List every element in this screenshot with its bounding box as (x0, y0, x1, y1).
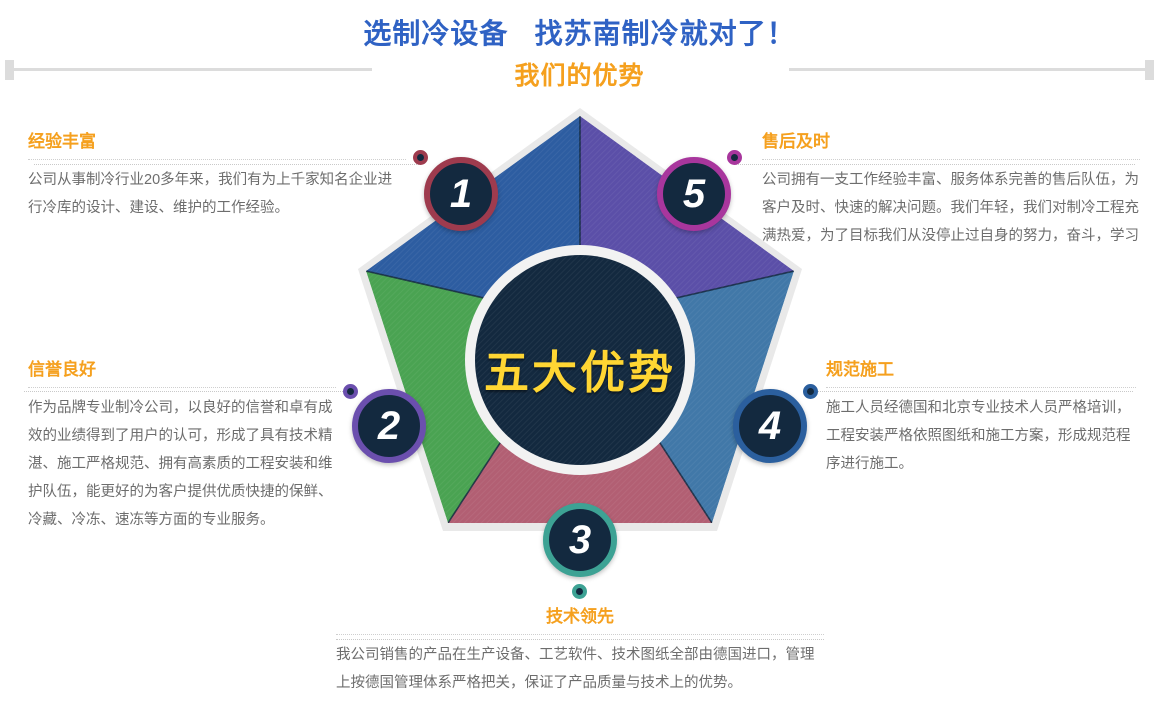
advantage-divider-technology (336, 634, 824, 635)
page-title: 选制冷设备 找苏南制冷就对了！ (0, 12, 1159, 52)
badge-5-number: 5 (683, 172, 705, 217)
advantage-divider-reputation (28, 387, 336, 388)
advantage-body-aftersales: 公司拥有一支工作经验丰富、服务体系完善的售后队伍，为客户及时、快速的解决问题。我… (762, 166, 1140, 250)
advantage-block-aftersales: 售后及时 公司拥有一支工作经验丰富、服务体系完善的售后队伍，为客户及时、快速的解… (762, 132, 1140, 250)
advantage-body-reputation: 作为品牌专业制冷公司，以良好的信誉和卓有成效的业绩得到了用户的认可，形成了具有技… (28, 394, 336, 534)
badge-dot-4 (803, 384, 818, 399)
badge-dot-5 (727, 150, 742, 165)
page-header: 选制冷设备 找苏南制冷就对了！ 我们的优势 (0, 0, 1159, 100)
advantage-title-technology: 技术领先 (336, 607, 824, 627)
advantage-body-technology: 我公司销售的产品在生产设备、工艺软件、技术图纸全部由德国进口，管理上按德国管理体… (336, 641, 824, 697)
pentagon-svg (358, 108, 802, 564)
advantage-block-construction: 规范施工 施工人员经德国和北京专业技术人员严格培训，工程安装严格依照图纸和施工方… (826, 360, 1136, 478)
advantage-block-reputation: 信誉良好 作为品牌专业制冷公司，以良好的信誉和卓有成效的业绩得到了用户的认可，形… (28, 360, 336, 534)
advantage-title-reputation: 信誉良好 (28, 360, 336, 380)
advantage-body-experience: 公司从事制冷行业20多年来，我们有为上千家知名企业进行冷库的设计、建设、维护的工… (28, 166, 406, 222)
advantage-title-aftersales: 售后及时 (762, 132, 1140, 152)
badge-2-number: 2 (378, 404, 400, 449)
advantage-title-construction: 规范施工 (826, 360, 1136, 380)
badge-dot-1 (413, 150, 428, 165)
badge-3-number: 3 (569, 518, 591, 563)
advantage-divider-construction (826, 387, 1136, 388)
advantage-body-construction: 施工人员经德国和北京专业技术人员严格培训，工程安装严格依照图纸和施工方案，形成规… (826, 394, 1136, 478)
badge-4-number: 4 (759, 404, 781, 449)
badge-4[interactable]: 4 (733, 389, 807, 463)
advantage-block-technology: 技术领先 我公司销售的产品在生产设备、工艺软件、技术图纸全部由德国进口，管理上按… (336, 607, 824, 697)
page-subtitle: 我们的优势 (0, 56, 1159, 92)
badge-3[interactable]: 3 (543, 503, 617, 577)
advantage-divider-experience (28, 159, 406, 160)
center-disc-texture (475, 255, 685, 465)
badge-dot-2 (343, 384, 358, 399)
advantage-divider-aftersales (762, 159, 1140, 160)
badge-5[interactable]: 5 (657, 157, 731, 231)
badge-2[interactable]: 2 (352, 389, 426, 463)
badge-1[interactable]: 1 (424, 157, 498, 231)
badge-1-number: 1 (450, 172, 472, 217)
badge-dot-3 (572, 584, 587, 599)
advantage-title-experience: 经验丰富 (28, 132, 406, 152)
pentagon-wheel: 五大优势 (358, 108, 802, 564)
advantage-block-experience: 经验丰富 公司从事制冷行业20多年来，我们有为上千家知名企业进行冷库的设计、建设… (28, 132, 406, 222)
